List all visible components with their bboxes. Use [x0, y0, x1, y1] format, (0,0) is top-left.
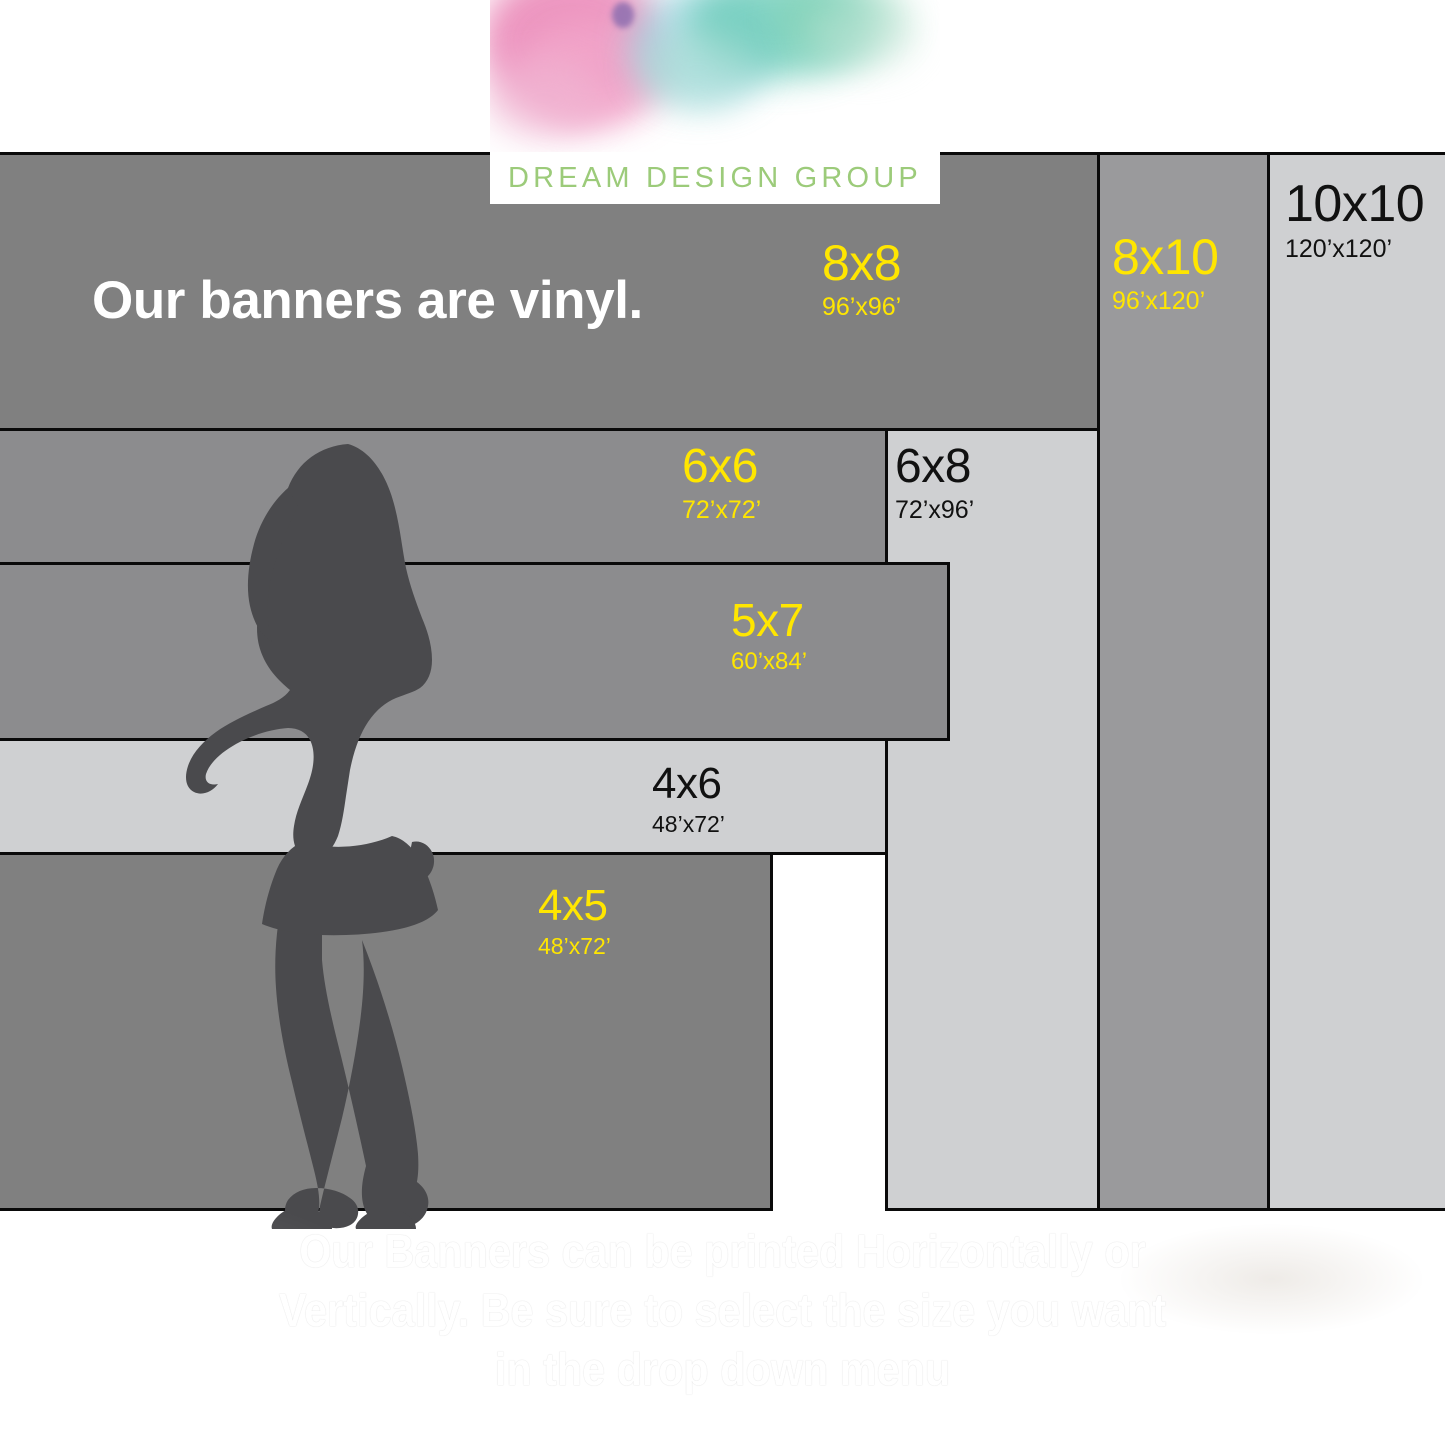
label-8x8: 8x8 96’x96’: [822, 238, 901, 320]
banner-rect-6x8[interactable]: [885, 428, 1100, 1211]
label-8x10-size: 8x10: [1112, 232, 1218, 282]
label-10x10-size: 10x10: [1285, 178, 1424, 230]
label-5x7-dimensions: 60’x84’: [731, 650, 807, 674]
label-6x8-size: 6x8: [895, 443, 974, 491]
watercolor-splash-faint-icon: [808, 0, 918, 70]
label-6x8: 6x8 72’x96’: [895, 443, 974, 523]
label-6x8-dimensions: 72’x96’: [895, 498, 974, 523]
label-6x6-size: 6x6: [682, 443, 761, 491]
label-8x10: 8x10 96’x120’: [1112, 232, 1218, 314]
label-10x10: 10x10 120’x120’: [1285, 178, 1424, 262]
banner-size-chart-infographic: 8x8 96’x96’ 8x10 96’x120’ 10x10 120’x120…: [0, 0, 1445, 1445]
label-4x6-dimensions: 48’x72’: [652, 813, 725, 836]
label-4x5-size: 4x5: [538, 884, 611, 928]
label-4x6: 4x6 48’x72’: [652, 762, 725, 836]
label-10x10-dimensions: 120’x120’: [1285, 237, 1424, 262]
label-4x5: 4x5 48’x72’: [538, 884, 611, 958]
label-4x5-dimensions: 48’x72’: [538, 935, 611, 958]
label-5x7: 5x7 60’x84’: [731, 597, 807, 674]
label-8x10-dimensions: 96’x120’: [1112, 289, 1218, 314]
label-5x7-size: 5x7: [731, 597, 807, 643]
brand-text-plate: DREAM DESIGN GROUP: [490, 152, 940, 204]
banner-rect-10x10[interactable]: [1267, 152, 1445, 1211]
label-6x6-dimensions: 72’x72’: [682, 498, 761, 523]
label-8x8-size: 8x8: [822, 238, 901, 288]
headline-text: Our banners are vinyl.: [92, 270, 643, 331]
caption-line-2: Vertically. Be sure to select the size y…: [72, 1281, 1373, 1340]
brand-logo: DREAM DESIGN GROUP: [490, 0, 940, 210]
watercolor-splash-teal2-icon: [638, 28, 758, 108]
label-6x6: 6x6 72’x72’: [682, 443, 761, 523]
label-4x6-size: 4x6: [652, 762, 725, 806]
woman-silhouette: [180, 440, 510, 1230]
caption-line-1: Our Banners can be printed Horizontally …: [72, 1222, 1373, 1281]
watercolor-dot-purple-icon: [612, 2, 634, 28]
bottom-caption: Our Banners can be printed Horizontally …: [72, 1222, 1373, 1399]
label-8x8-dimensions: 96’x96’: [822, 295, 901, 320]
caption-line-3: in the drop down menu: [72, 1340, 1373, 1399]
brand-name: DREAM DESIGN GROUP: [508, 162, 922, 195]
